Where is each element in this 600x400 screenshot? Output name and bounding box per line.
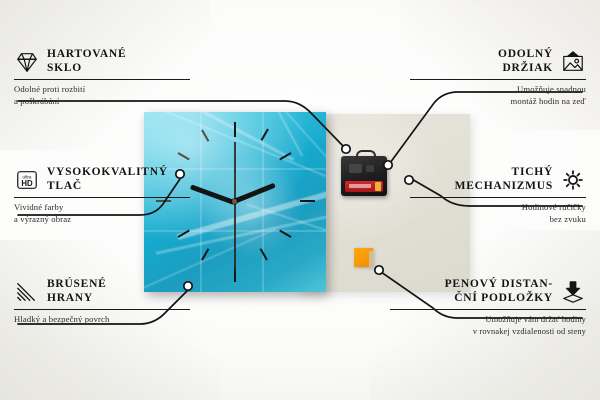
infographic-canvas: HARTOVANÉ SKLO Odolné proti rozbití a po…	[0, 0, 600, 400]
feature-durable-holder: ODOLNÝ DRŽIAK Umožňuje snadnou montáž ho…	[410, 48, 586, 107]
feature-subtitle-line1: Hodinové ručičky	[410, 202, 586, 213]
feature-title-line1: HARTOVANÉ	[47, 48, 126, 62]
foam-spacer-pad	[354, 248, 373, 267]
feature-subtitle: Odolné proti rozbití a poškrábání	[14, 84, 190, 107]
feature-header: BRÚSENÉ HRANY	[14, 278, 190, 305]
clock-tick	[234, 122, 236, 137]
feature-header: TICHÝ MECHANIZMUS	[410, 166, 586, 193]
gear-icon	[560, 168, 586, 192]
feature-divider	[14, 197, 190, 198]
feature-subtitle: Hladký a bezpečný povrch	[14, 314, 190, 325]
feature-subtitle: Umožňuje vám držať hodiny v rovnakej vzd…	[390, 314, 586, 337]
feature-silent-mechanism: TICHÝ MECHANIZMUS Hodinové ručičky bez z…	[410, 166, 586, 225]
clock-tick	[300, 200, 315, 202]
feature-divider	[410, 79, 586, 80]
feature-title-line2: TLAČ	[47, 180, 168, 194]
ultra-hd-icon: ultra HD	[14, 168, 40, 192]
clock-mechanism	[341, 156, 387, 196]
feature-title-line1: BRÚSENÉ	[47, 278, 107, 292]
feature-subtitle-line1: Vividné farby	[14, 202, 190, 213]
battery	[345, 181, 383, 192]
feature-divider	[390, 309, 586, 310]
feature-tempered-glass: HARTOVANÉ SKLO Odolné proti rozbití a po…	[14, 48, 190, 107]
feature-title: ODOLNÝ DRŽIAK	[498, 48, 553, 75]
feature-divider	[14, 309, 190, 310]
glass-seam	[200, 112, 202, 292]
feature-subtitle-line2: a poškrábání	[14, 96, 190, 107]
arrow-into-layers-icon	[560, 280, 586, 304]
feature-subtitle-line1: Odolné proti rozbití	[14, 84, 190, 95]
feature-title-line1: TICHÝ	[455, 166, 553, 180]
mechanism-knob	[349, 164, 362, 173]
feature-title-line2: HRANY	[47, 292, 107, 306]
diamond-icon	[14, 50, 40, 74]
feature-subtitle: Vividné farby a výrazný obraz	[14, 202, 190, 225]
feature-subtitle-line2: bez zvuku	[410, 214, 586, 225]
feature-subtitle-line1: Umožňuje snadnou	[410, 84, 586, 95]
feature-header: HARTOVANÉ SKLO	[14, 48, 190, 75]
feature-subtitle: Hodinové ručičky bez zvuku	[410, 202, 586, 225]
feature-title-line1: VYSOKOKVALITNÝ	[47, 166, 168, 180]
clock-tick	[201, 130, 209, 142]
feature-high-quality-print: ultra HD VYSOKOKVALITNÝ TLAČ Vividné far…	[14, 166, 190, 225]
feature-title: PENOVÝ DISTAN- ČNÍ PODLOŽKY	[445, 278, 553, 305]
feature-title-line1: ODOLNÝ	[498, 48, 553, 62]
feature-header: PENOVÝ DISTAN- ČNÍ PODLOŽKY	[390, 278, 586, 305]
feature-subtitle-line2: montáž hodin na zeď	[410, 96, 586, 107]
feature-subtitle: Umožňuje snadnou montáž hodin na zeď	[410, 84, 586, 107]
feature-title: HARTOVANÉ SKLO	[47, 48, 126, 75]
picture-frame-hanger-icon	[560, 50, 586, 74]
feature-title: VYSOKOKVALITNÝ TLAČ	[47, 166, 168, 193]
feature-header: ODOLNÝ DRŽIAK	[410, 48, 586, 75]
battery-terminal	[375, 182, 381, 191]
feature-divider	[410, 197, 586, 198]
feature-subtitle-line1: Hladký a bezpečný povrch	[14, 314, 190, 325]
feature-header: ultra HD VYSOKOKVALITNÝ TLAČ	[14, 166, 190, 193]
feature-foam-spacers: PENOVÝ DISTAN- ČNÍ PODLOŽKY Umožňuje vám…	[390, 278, 586, 337]
feature-title-line2: MECHANIZMUS	[455, 180, 553, 194]
feature-subtitle-line2: a výrazný obraz	[14, 214, 190, 225]
feature-title-line1: PENOVÝ DISTAN-	[445, 278, 553, 292]
feature-title: BRÚSENÉ HRANY	[47, 278, 107, 305]
hatched-edge-icon	[14, 280, 40, 304]
clock-second-hand	[234, 142, 236, 272]
feature-divider	[14, 79, 190, 80]
feature-subtitle-line2: v rovnakej vzdialenosti od steny	[390, 326, 586, 337]
hd-label: HD	[21, 179, 33, 188]
clock-tick	[178, 152, 190, 160]
mechanism-knob-secondary	[366, 165, 374, 172]
feature-title: TICHÝ MECHANIZMUS	[455, 166, 553, 193]
feature-title-line2: ČNÍ PODLOŽKY	[445, 292, 553, 306]
feature-subtitle-line1: Umožňuje vám držať hodiny	[390, 314, 586, 325]
feature-title-line2: SKLO	[47, 62, 126, 76]
battery-label	[349, 184, 371, 188]
mechanism-hanger	[356, 150, 376, 160]
feature-ground-edges: BRÚSENÉ HRANY Hladký a bezpečný povrch	[14, 278, 190, 326]
feature-title-line2: DRŽIAK	[498, 62, 553, 76]
clock-center-hub	[232, 199, 237, 204]
